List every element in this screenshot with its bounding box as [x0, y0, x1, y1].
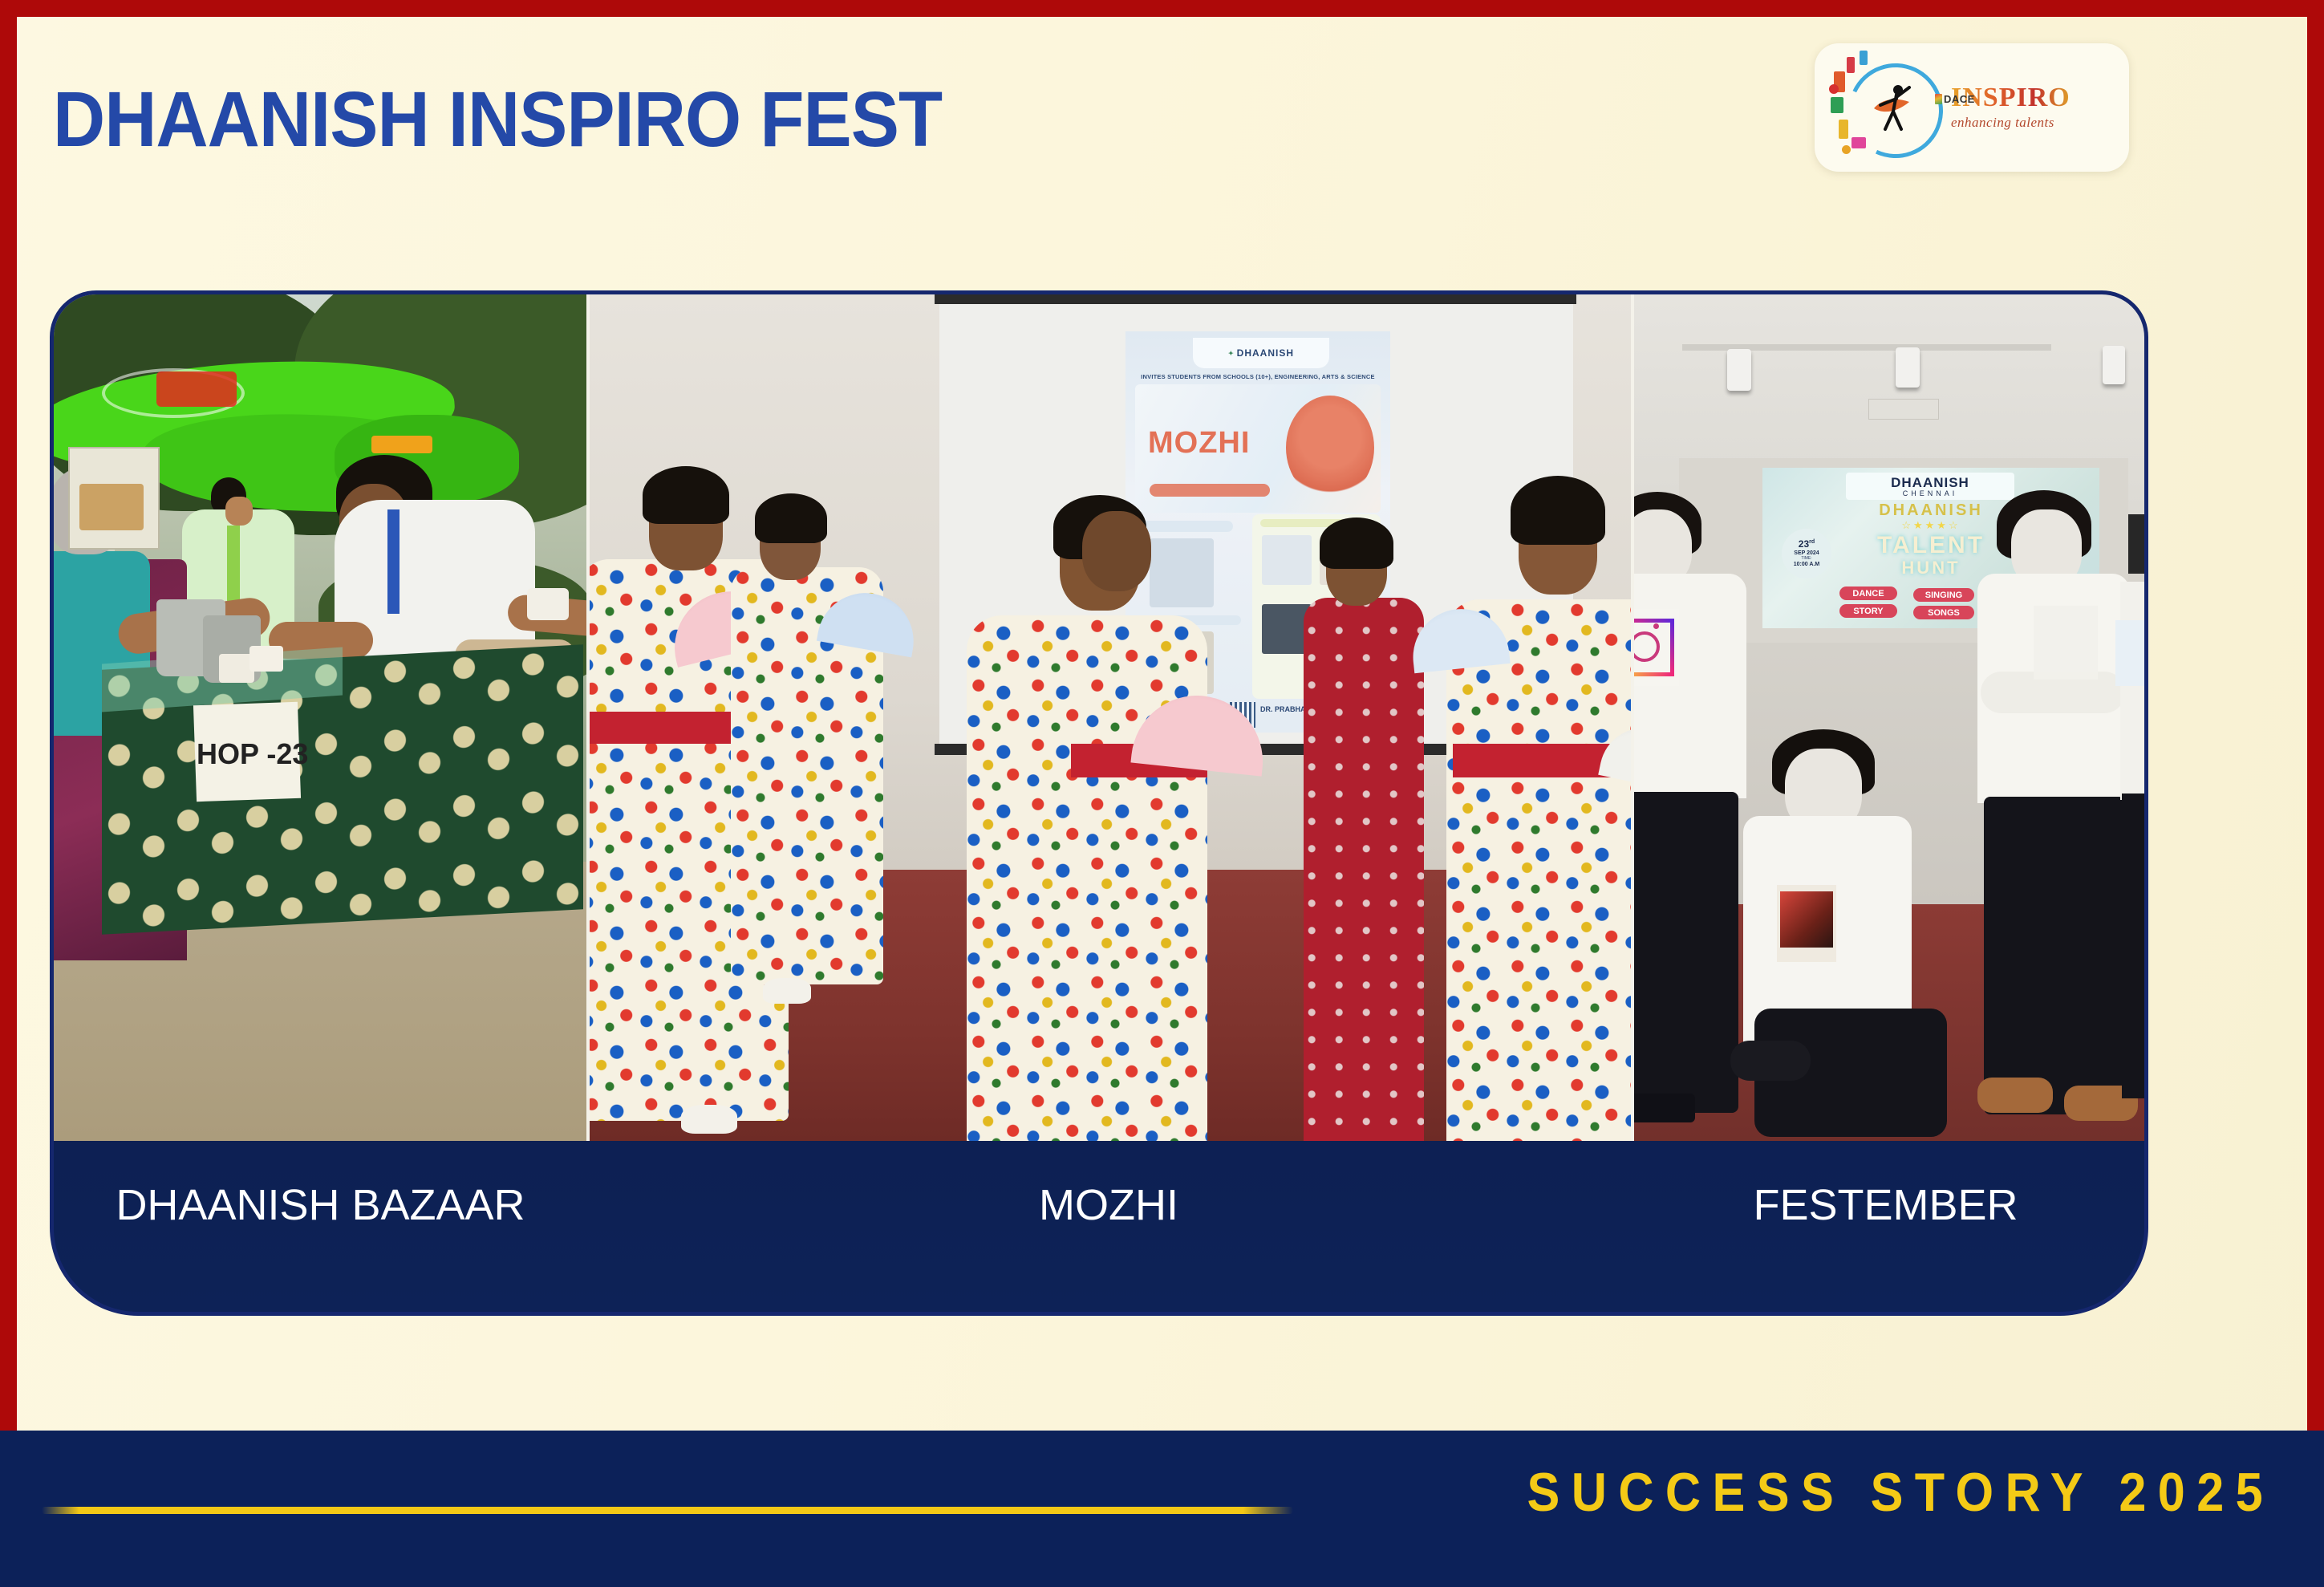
slide-category-pill: SONGS [1913, 606, 1974, 619]
tabi-sock [681, 1105, 737, 1134]
person-face [225, 497, 253, 526]
person-trousers [2122, 793, 2144, 1098]
gallery-card: HOP -23 ✦ DHAANISH I [50, 290, 2148, 1316]
slide-brand-sub: CHENNAI [1903, 489, 1958, 497]
poster-hero: MOZHI [1135, 384, 1381, 513]
dancer-kimono [1446, 599, 1631, 1141]
page-title: DHAANISH INSPIRO FEST [53, 80, 942, 158]
placard [2034, 606, 2098, 680]
poster-brand-bar: ✦ DHAANISH [1193, 338, 1329, 368]
slide-date-day: 23rd [1799, 539, 1815, 550]
dace-badge-label: DACE [1944, 93, 1975, 105]
slide-brand-bar: DHAANISH CHENNAI [1846, 473, 2014, 500]
paper-cup [249, 646, 283, 672]
frame-bar-top [0, 0, 2324, 17]
dancer-figure-icon [1869, 81, 1917, 134]
photo-dhaanish-bazaar: HOP -23 [54, 294, 586, 1141]
frame-bar-right [2307, 0, 2324, 1436]
person-shirt [1631, 574, 1746, 798]
caption-festember: FESTEMBER [1630, 1180, 2141, 1230]
umbrella-logo [156, 371, 237, 407]
poster-brand: DHAANISH [1237, 347, 1294, 359]
ceiling-vent [1868, 399, 1939, 420]
slide-time-value: 10:00 A.M [1794, 562, 1819, 568]
person-shoe [1730, 1041, 1811, 1081]
footer-bar: SUCCESS STORY 2025 [0, 1431, 2324, 1587]
tabi-sock [763, 978, 811, 1004]
confetti-shape [1851, 137, 1866, 148]
footer-divider [42, 1507, 1293, 1514]
spotlight-icon [2103, 346, 2125, 384]
slide-category-pill: DANCE [1839, 586, 1897, 600]
logo-tagline: enhancing talents [1951, 115, 2071, 131]
dancer-obi [1453, 744, 1613, 777]
spotlight-icon [1896, 347, 1920, 388]
person-trousers [1984, 797, 2125, 1114]
caption-mozhi: MOZHI [587, 1180, 1630, 1230]
menu-photo [79, 484, 144, 530]
person-salwar [1304, 598, 1424, 1141]
slide-brand: DHAANISH [1891, 476, 1969, 489]
poster-root: DHAANISH INSPIRO FEST INSPIRO enhancing … [0, 0, 2324, 1587]
poster-section-label [1137, 521, 1233, 532]
logo-text-block: INSPIRO enhancing talents [1951, 84, 2071, 131]
confetti-shape [1831, 97, 1843, 113]
poster-speaker-photo [1262, 535, 1312, 585]
poster-tagline: INVITES STUDENTS FROM SCHOOLS (10+), ENG… [1134, 373, 1382, 380]
poster-title: MOZHI [1148, 426, 1250, 461]
footer-label: SUCCESS STORY 2025 [1527, 1461, 2274, 1524]
photo-strip: HOP -23 ✦ DHAANISH I [54, 294, 2144, 1141]
photo-festember: DHAANISH CHENNAI DHAANISH ☆★★★☆ TALENT H… [1631, 294, 2144, 1141]
dancer-hair [643, 466, 729, 524]
person-shirt [2120, 582, 2144, 800]
dancer-hair [755, 493, 827, 543]
dace-mark-icon [1935, 94, 1942, 104]
person-shoe [1631, 1094, 1695, 1122]
poster-dace-mark-icon: ✦ [1228, 350, 1234, 357]
screen-top-bar [935, 294, 1576, 304]
confetti-shape [1842, 145, 1851, 154]
confetti-shape [1829, 84, 1839, 94]
confetti-shape [1847, 57, 1855, 73]
shop-sign-label: HOP -23 [197, 737, 308, 771]
lanyard [387, 509, 400, 614]
person-shoe [1977, 1078, 2053, 1113]
dace-badge: DACE [1935, 93, 1975, 105]
inspiro-logo: INSPIRO enhancing talents DACE [1815, 43, 2129, 172]
paper-cup [527, 588, 569, 620]
person-trousers [1631, 792, 1738, 1113]
poster-speaker-photo [1150, 538, 1214, 607]
dancer-hair [1511, 476, 1605, 545]
confetti-shape [1860, 51, 1868, 65]
poster-illustration [1286, 396, 1374, 500]
slide-category-pill: STORY [1839, 604, 1897, 618]
umbrella-logo [371, 436, 432, 453]
dancer-kimono [967, 615, 1207, 1141]
caption-row: DHAANISH BAZAAR MOZHI FESTEMBER [54, 1141, 2144, 1269]
placard-graphic [1780, 891, 1833, 948]
confetti-shape [1839, 120, 1848, 139]
instagram-dot-icon [1653, 623, 1659, 629]
poster-date-strip [1150, 484, 1270, 497]
spotlight-icon [1727, 349, 1751, 391]
slide-date-badge: 23rd SEP 2024 TIME: 10:00 A.M [1782, 529, 1831, 578]
caption-dhaanish-bazaar: DHAANISH BAZAAR [54, 1180, 587, 1230]
placard [2115, 620, 2144, 686]
person-hair [1320, 517, 1393, 569]
frame-bar-left [0, 0, 17, 1436]
logo-collage-icon [1827, 47, 1948, 168]
photo-mozhi: ✦ DHAANISH INVITES STUDENTS FROM SCHOOLS… [586, 294, 1631, 1141]
dancer-face [1082, 511, 1151, 591]
slide-category-pill: SINGING [1913, 588, 1974, 602]
